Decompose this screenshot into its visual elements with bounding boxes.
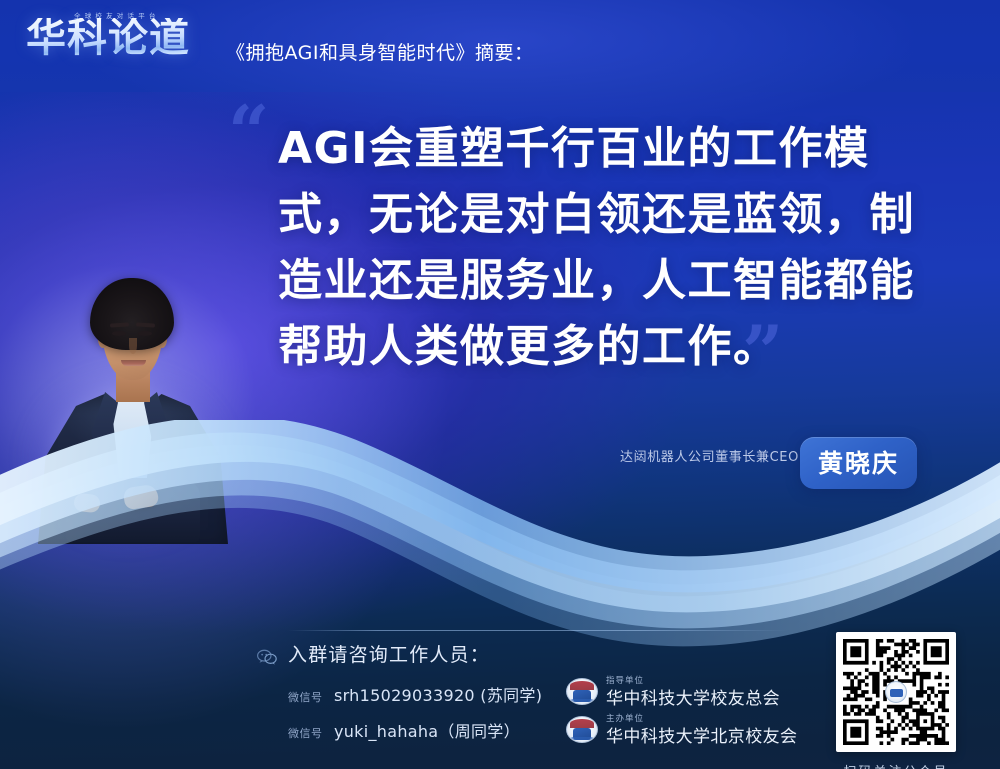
- contact-label: 微信号: [288, 691, 323, 704]
- page-title: 《拥抱AGI和具身智能时代》摘要：: [226, 38, 534, 65]
- quote-line: 帮助人类做更多的工作。: [278, 314, 958, 380]
- portrait-eye-right: [138, 331, 152, 336]
- quote-open-mark: “: [228, 96, 269, 168]
- university-seal-icon: [566, 678, 598, 705]
- wechat-icon: [256, 648, 278, 666]
- brand-logo: 全球校友对话平台 华科论道: [26, 8, 222, 70]
- speaker-role: 达闼机器人公司董事长兼CEO: [620, 446, 799, 465]
- seal-band: [571, 737, 593, 740]
- qr-caption: 扫码关注公众号: [836, 761, 956, 769]
- organization-name: 华中科技大学校友总会: [606, 684, 780, 709]
- organization-name: 华中科技大学北京校友会: [606, 722, 797, 747]
- contact-label: 微信号: [288, 727, 323, 740]
- portrait-hand-left: [73, 493, 101, 514]
- footer-title: 入群请咨询工作人员：: [288, 640, 490, 667]
- poster-canvas: 全球校友对话平台 华科论道 《拥抱AGI和具身智能时代》摘要： “ ” AGI会…: [0, 0, 1000, 769]
- portrait-eye-left: [112, 331, 126, 336]
- contact-row: 微信号 srh15029033920 (苏同学): [288, 682, 542, 706]
- contact-value[interactable]: srh15029033920 (苏同学): [334, 686, 542, 705]
- qr-center-logo: [885, 681, 907, 703]
- portrait-nose: [129, 338, 137, 354]
- qr-code[interactable]: [836, 632, 956, 752]
- logo-wordmark: 华科论道: [26, 18, 190, 58]
- speaker-portrait: [12, 268, 250, 540]
- footer-divider: [288, 630, 788, 631]
- seal-arc: [570, 719, 594, 728]
- quote-line: AGI会重塑千行百业的工作模: [278, 116, 958, 182]
- university-seal-icon: [566, 716, 598, 743]
- seal-arc: [570, 681, 594, 690]
- speaker-name-badge: 黄晓庆: [800, 437, 917, 489]
- quote-line: 式，无论是对白领还是蓝领，制: [278, 182, 958, 248]
- quote-line: 造业还是服务业，人工智能都能: [278, 248, 958, 314]
- portrait-mouth: [121, 360, 146, 366]
- contact-row: 微信号 yuki_hahaha（周同学）: [288, 718, 520, 742]
- qr-section: 扫码关注公众号: [836, 632, 956, 769]
- contact-value[interactable]: yuki_hahaha（周同学）: [334, 722, 520, 741]
- seal-band: [571, 699, 593, 702]
- quote-text: AGI会重塑千行百业的工作模 式，无论是对白领还是蓝领，制 造业还是服务业，人工…: [278, 116, 958, 380]
